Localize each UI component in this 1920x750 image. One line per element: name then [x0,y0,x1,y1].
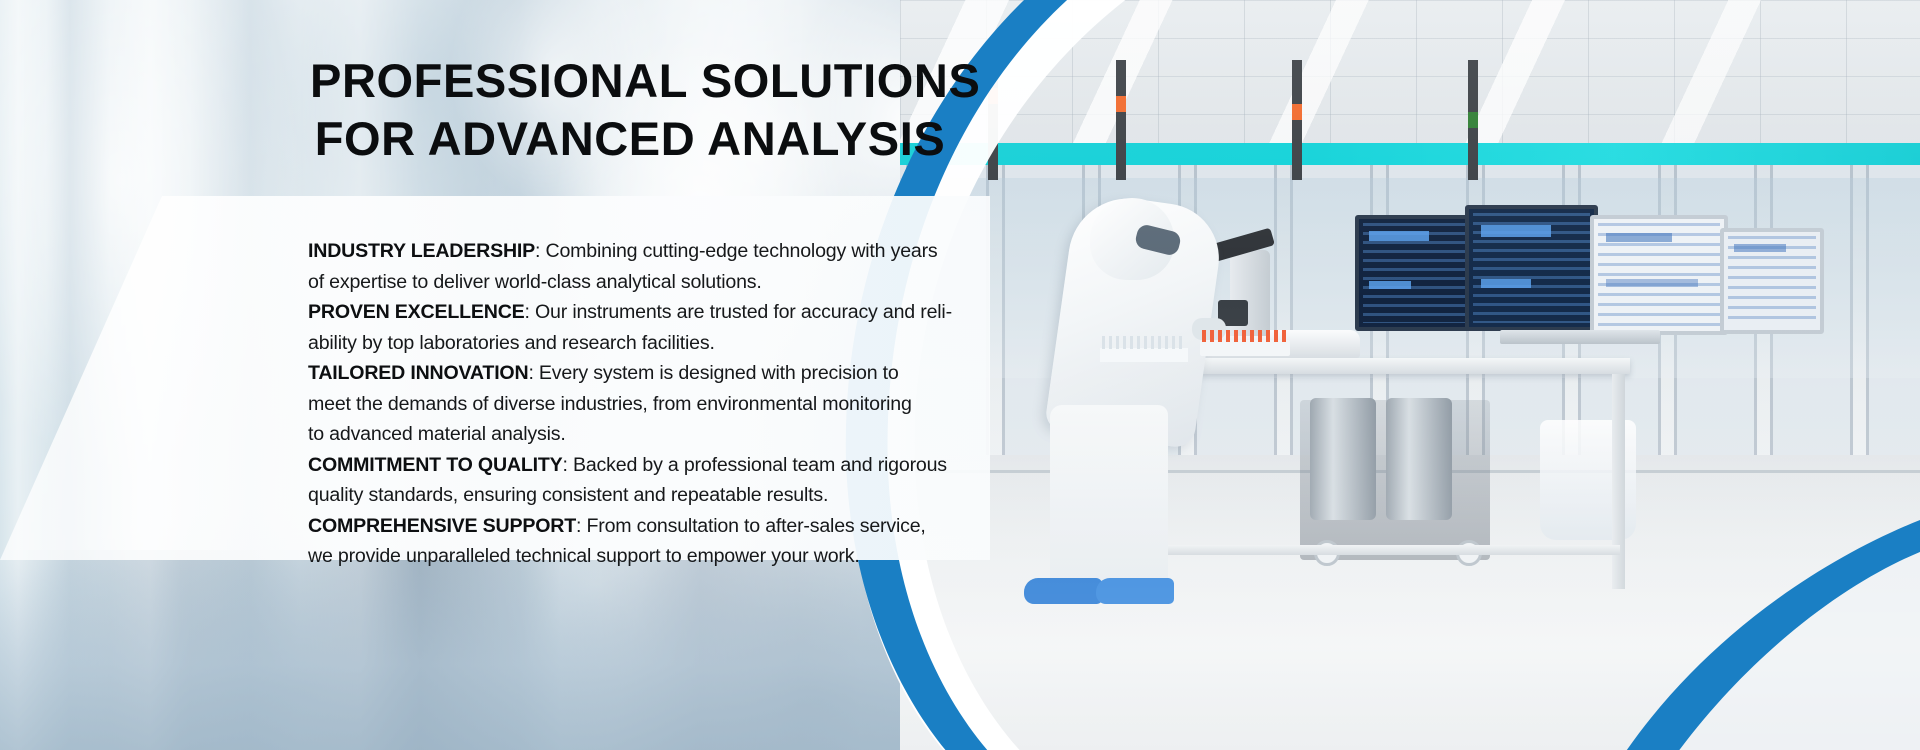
feature-line: PROVEN EXCELLENCE: Our instruments are t… [308,297,880,328]
feature-text: : Every system is designed with precisio… [528,362,898,384]
photo-screen-block [1734,244,1786,252]
feature-line: INDUSTRY LEADERSHIP: Combining cutting-e… [308,236,880,267]
hero-banner: PROFESSIONAL SOLUTIONS FOR ADVANCED ANAL… [0,0,1920,750]
photo-monitor [1590,215,1728,335]
photo-technician-legs [1050,405,1168,600]
photo-pole-lamp [1468,112,1478,128]
feature-text: of expertise to deliver world-class anal… [308,271,762,293]
headline-line-1: PROFESSIONAL SOLUTIONS [310,52,950,110]
feature-text: ability by top laboratories and research… [308,332,715,354]
feature-line: meet the demands of diverse industries, … [308,389,880,420]
photo-screen-block [1481,279,1531,288]
feature-line: to advanced material analysis. [308,419,880,450]
feature-label: PROVEN EXCELLENCE [308,301,525,323]
photo-drum [1310,398,1376,520]
photo-pole-lamp [1116,96,1126,112]
feature-label: INDUSTRY LEADERSHIP [308,240,535,262]
lab-photo [900,0,1920,750]
feature-label: TAILORED INNOVATION [308,362,528,384]
photo-monitor [1355,215,1473,331]
photo-signal-poles [900,60,1920,180]
feature-line: we provide unparalleled technical suppor… [308,541,880,572]
photo-screen-block [1369,281,1411,289]
feature-label: COMMITMENT TO QUALITY [308,454,563,476]
feature-line: quality standards, ensuring consistent a… [308,480,880,511]
feature-line: COMMITMENT TO QUALITY: Backed by a profe… [308,450,880,481]
feature-list: INDUSTRY LEADERSHIP: Combining cutting-e… [308,236,880,572]
photo-monitor [1465,205,1598,331]
photo-bench-leg [1612,374,1625,589]
feature-line: of expertise to deliver world-class anal… [308,267,880,298]
feature-label: COMPREHENSIVE SUPPORT [308,515,576,537]
photo-screen-block [1369,231,1429,241]
feature-text: to advanced material analysis. [308,423,566,445]
feature-text: meet the demands of diverse industries, … [308,393,912,415]
photo-pole-lamp [1292,104,1302,120]
photo-screen-block [1606,233,1672,242]
headline-line-2: FOR ADVANCED ANALYSIS [310,110,950,168]
photo-drum [1386,398,1452,520]
photo-pole-lamp [988,88,998,104]
photo-tube-rack-orange [1200,340,1290,356]
photo-shoe-cover [1096,578,1174,604]
feature-line: COMPREHENSIVE SUPPORT: From consultation… [308,511,880,542]
feature-line: ability by top laboratories and research… [308,328,880,359]
photo-monitor [1720,228,1824,334]
feature-text: : Combining cutting-edge technology with… [535,240,938,262]
feature-text: : Backed by a professional team and rigo… [563,454,947,476]
photo-screen-block [1606,279,1698,287]
photo-shoe-cover [1024,578,1102,604]
feature-text: we provide unparalleled technical suppor… [308,545,860,567]
feature-text: : Our instruments are trusted for accura… [525,301,952,323]
page-title: PROFESSIONAL SOLUTIONS FOR ADVANCED ANAL… [310,52,950,168]
photo-tube-rack-clear [1100,348,1188,362]
feature-text: : From consultation to after-sales servi… [576,515,926,537]
photo-laptop [1500,330,1660,344]
feature-line: TAILORED INNOVATION: Every system is des… [308,358,880,389]
feature-text: quality standards, ensuring consistent a… [308,484,828,506]
photo-screen-block [1481,225,1551,237]
